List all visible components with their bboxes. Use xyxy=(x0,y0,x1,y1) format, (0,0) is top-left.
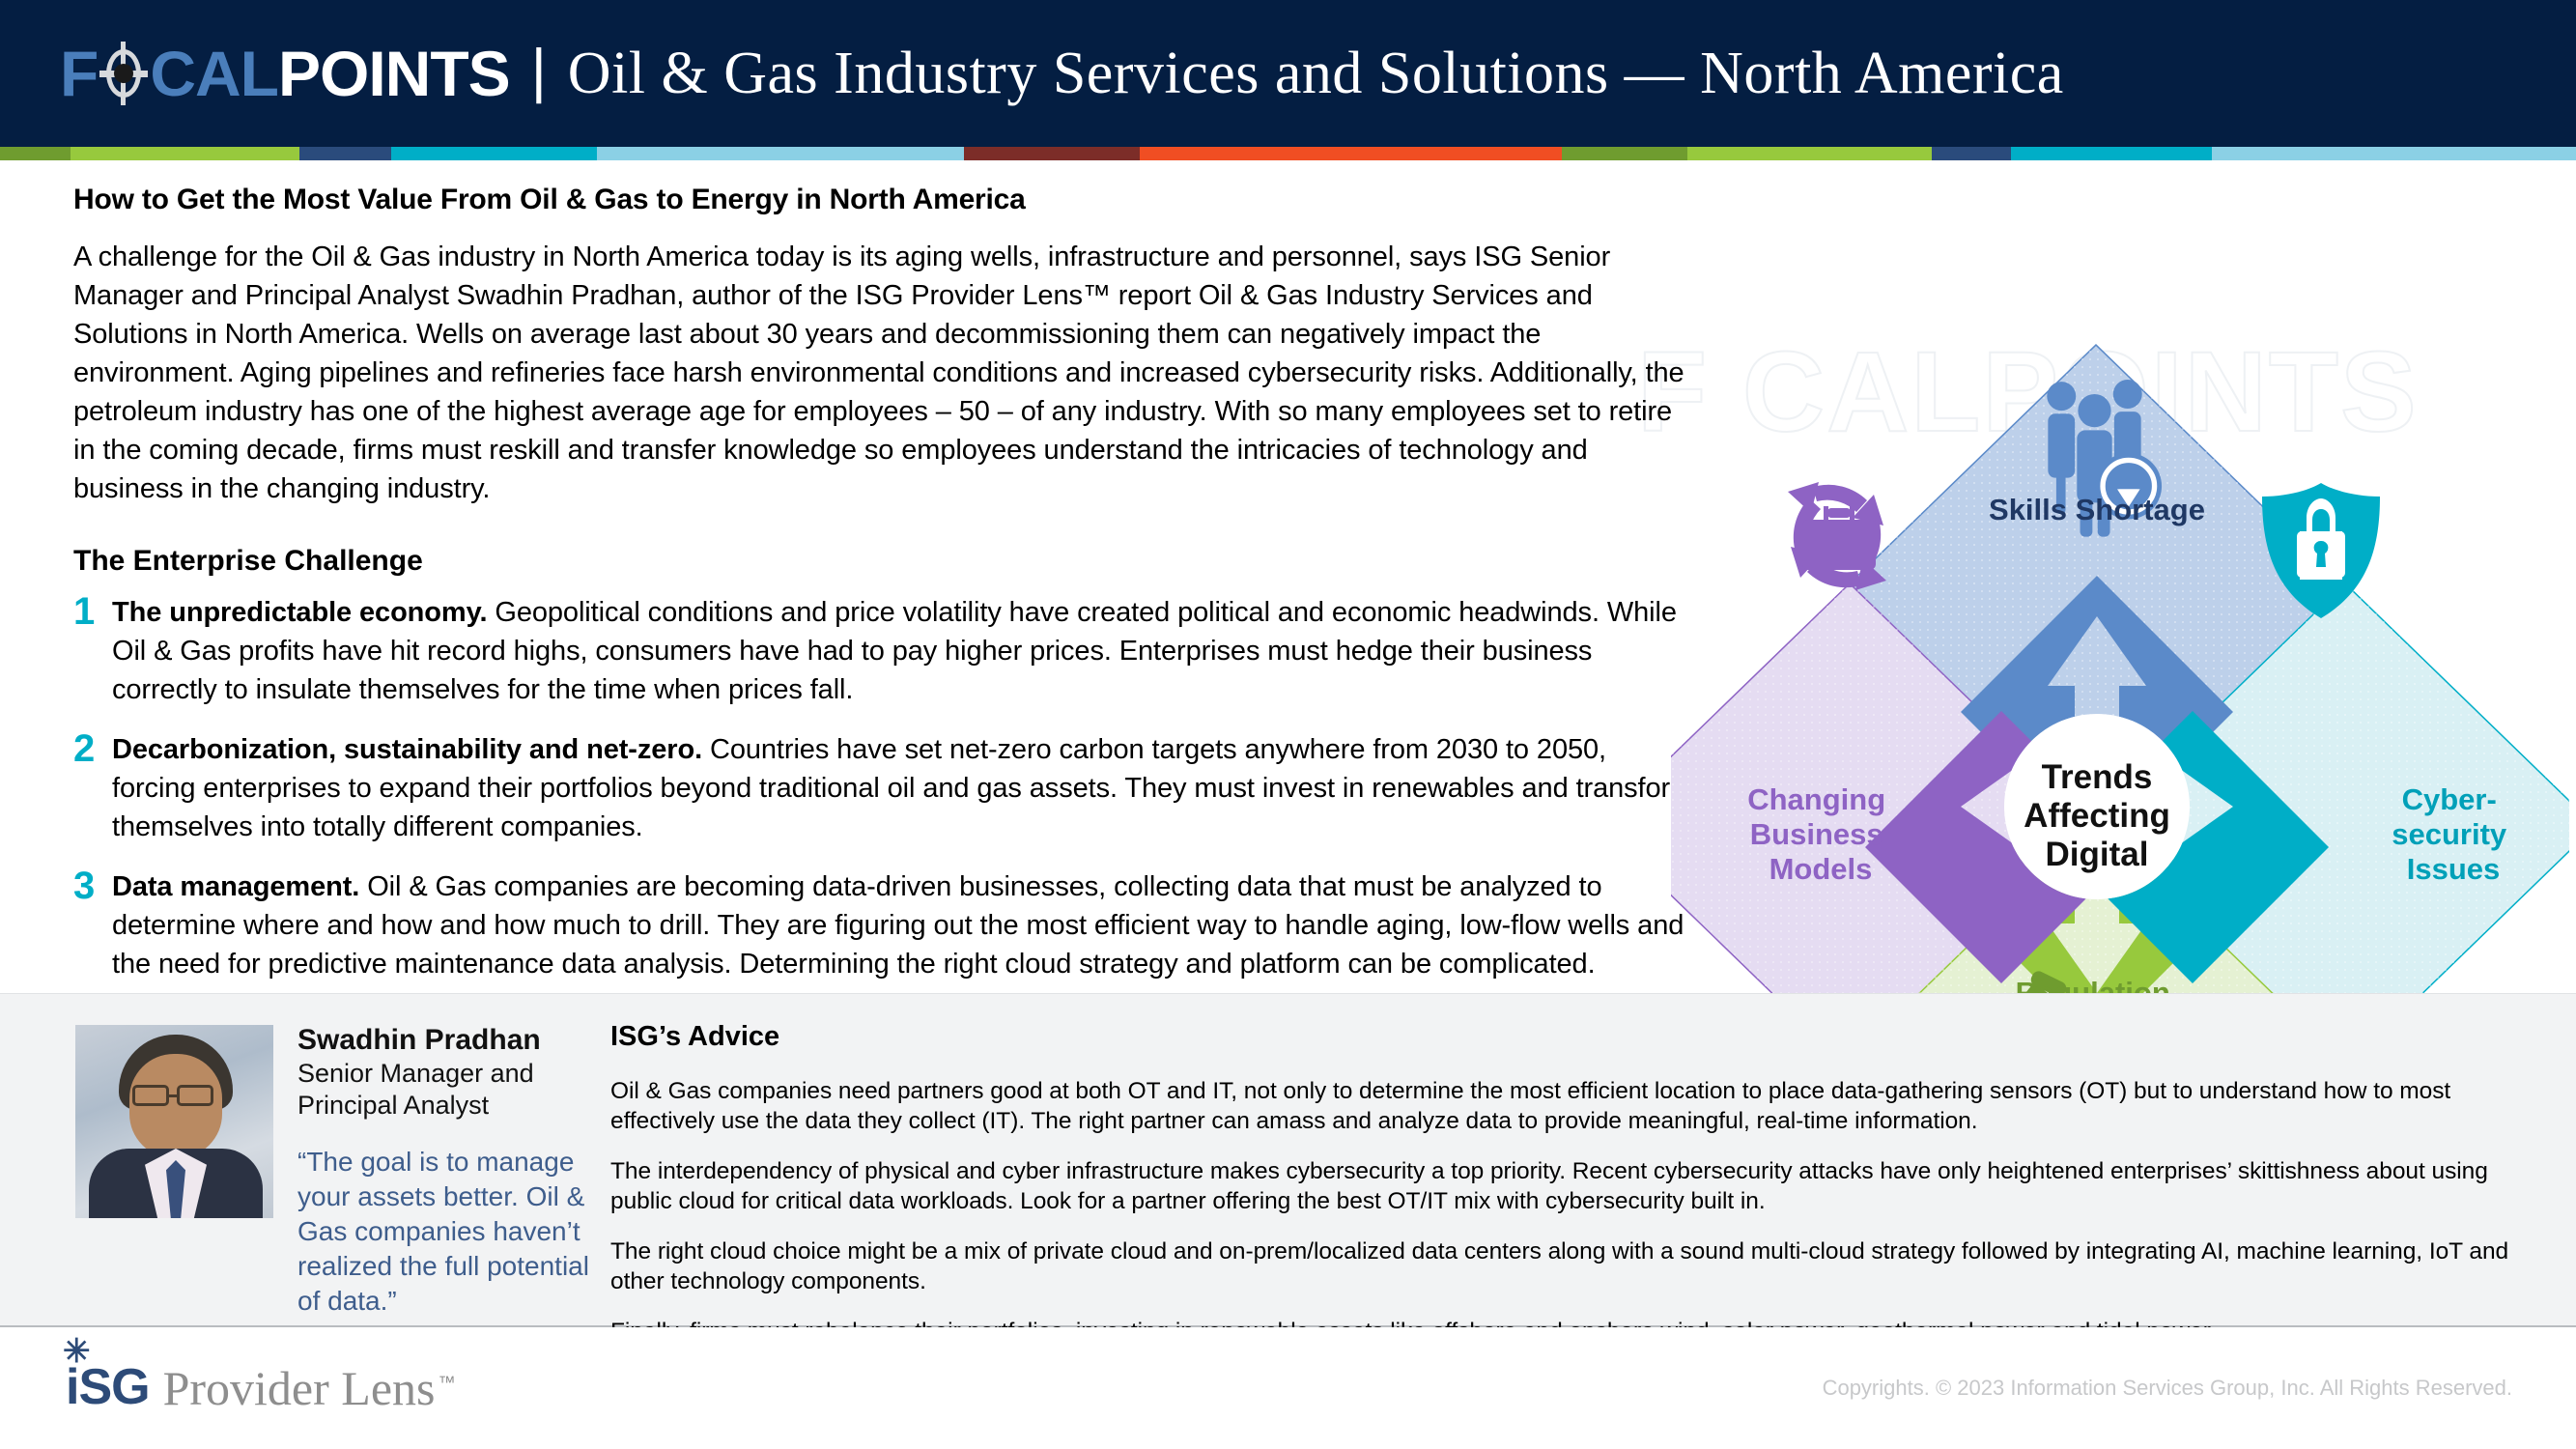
main-content: F CALPOINTS How to Get the Most Value Fr… xyxy=(0,160,2576,993)
challenge-title: Data management. xyxy=(112,871,359,902)
challenge-item: 3Data management. Oil & Gas companies ar… xyxy=(73,867,1696,983)
color-bar-segment-0 xyxy=(0,147,71,160)
provider-lens-text: Provider Lens xyxy=(163,1360,436,1416)
copyright-text: Copyrights. © 2023 Information Services … xyxy=(1823,1376,2512,1401)
color-bar-segment-8 xyxy=(1687,147,1932,160)
briefcase-refresh-cycle-icon xyxy=(1788,482,1886,590)
article-heading: How to Get the Most Value From Oil & Gas… xyxy=(73,184,1696,216)
color-bar-segment-5 xyxy=(964,147,1140,160)
analyst-quote: “The goal is to manage your assets bette… xyxy=(297,1145,616,1319)
page-title: Oil & Gas Industry Services and Solution… xyxy=(568,40,2064,108)
svg-text:Trends: Trends xyxy=(2042,758,2153,796)
svg-text:Digital: Digital xyxy=(2046,836,2149,873)
trademark-symbol: ™ xyxy=(438,1373,455,1393)
color-bar-segment-3 xyxy=(391,147,597,160)
enterprise-challenge-list: 1The unpredictable economy. Geopolitical… xyxy=(73,593,1696,983)
logo-letters-cal: CAL xyxy=(150,37,278,110)
avatar xyxy=(75,1025,273,1218)
color-bar-segment-4 xyxy=(597,147,964,160)
challenge-number: 2 xyxy=(73,730,112,846)
challenge-item: 2Decarbonization, sustainability and net… xyxy=(73,730,1696,846)
analyst-role-line2: Principal Analyst xyxy=(297,1090,616,1122)
focal-points-page: F CAL POINTS | Oil & Gas Industry Servic… xyxy=(0,0,2576,1449)
challenge-text: The unpredictable economy. Geopolitical … xyxy=(112,593,1696,709)
challenge-title: The unpredictable economy. xyxy=(112,597,487,628)
diagram-label-cybersecurity: Cyber- security Issues xyxy=(2392,782,2515,886)
color-bar-segment-11 xyxy=(2212,147,2576,160)
advice-paragraph: The interdependency of physical and cybe… xyxy=(610,1156,2513,1216)
analyst-bio: Swadhin Pradhan Senior Manager and Princ… xyxy=(297,1023,616,1319)
article-column: How to Get the Most Value From Oil & Gas… xyxy=(73,184,1696,993)
svg-text:Affecting: Affecting xyxy=(2024,797,2170,835)
challenge-text: Decarbonization, sustainability and net-… xyxy=(112,730,1696,846)
diagram-label-skills-shortage: Skills Shortage xyxy=(1989,493,2205,526)
trends-affecting-digital-diagram: Trends Affecting Digital xyxy=(1671,327,2569,993)
color-bar-segment-6 xyxy=(1140,147,1562,160)
brand-row: F CAL POINTS | Oil & Gas Industry Servic… xyxy=(0,37,2064,110)
color-bar-segment-2 xyxy=(299,147,391,160)
color-bar-segment-10 xyxy=(2011,147,2212,160)
advice-paragraph: The right cloud choice might be a mix of… xyxy=(610,1236,2513,1296)
page-header: F CAL POINTS | Oil & Gas Industry Servic… xyxy=(0,0,2576,147)
isg-advice-column: ISG’s Advice Oil & Gas companies need pa… xyxy=(610,1021,2513,1367)
color-bar-segment-1 xyxy=(71,147,299,160)
isg-advice-heading: ISG’s Advice xyxy=(610,1021,2513,1053)
header-divider: | xyxy=(531,37,547,105)
brand-color-bar xyxy=(0,147,2576,160)
challenge-number: 1 xyxy=(73,593,112,709)
logo-letters-points: POINTS xyxy=(278,37,510,110)
challenge-title: Decarbonization, sustainability and net-… xyxy=(112,734,702,765)
advice-paragraph: Oil & Gas companies need partners good a… xyxy=(610,1076,2513,1136)
enterprise-challenge-heading: The Enterprise Challenge xyxy=(73,545,1696,578)
analyst-name: Swadhin Pradhan xyxy=(297,1023,616,1058)
analyst-role-line1: Senior Manager and xyxy=(297,1058,616,1090)
isg-advice-paragraphs: Oil & Gas companies need partners good a… xyxy=(610,1076,2513,1347)
page-footer: ✳ iSG Provider Lens ™ Copyrights. © 2023… xyxy=(0,1327,2576,1449)
article-lead-paragraph: A challenge for the Oil & Gas industry i… xyxy=(73,238,1696,508)
diagram-label-changing-business-models: Changing Business Models xyxy=(1747,782,1894,886)
isg-provider-lens-logo: ✳ iSG Provider Lens ™ xyxy=(66,1358,455,1416)
color-bar-segment-7 xyxy=(1562,147,1687,160)
challenge-item: 1The unpredictable economy. Geopolitical… xyxy=(73,593,1696,709)
challenge-number: 3 xyxy=(73,867,112,983)
diagram-label-regulation-changes: Regulation Changes xyxy=(2016,976,2179,993)
crosshair-target-icon xyxy=(98,42,150,105)
isg-wordmark: ✳ iSG xyxy=(66,1358,150,1416)
color-bar-segment-9 xyxy=(1932,147,2011,160)
advice-section: Swadhin Pradhan Senior Manager and Princ… xyxy=(0,993,2576,1327)
challenge-text: Data management. Oil & Gas companies are… xyxy=(112,867,1696,983)
logo-letter-f: F xyxy=(60,37,98,110)
asterisk-icon: ✳ xyxy=(63,1335,90,1368)
